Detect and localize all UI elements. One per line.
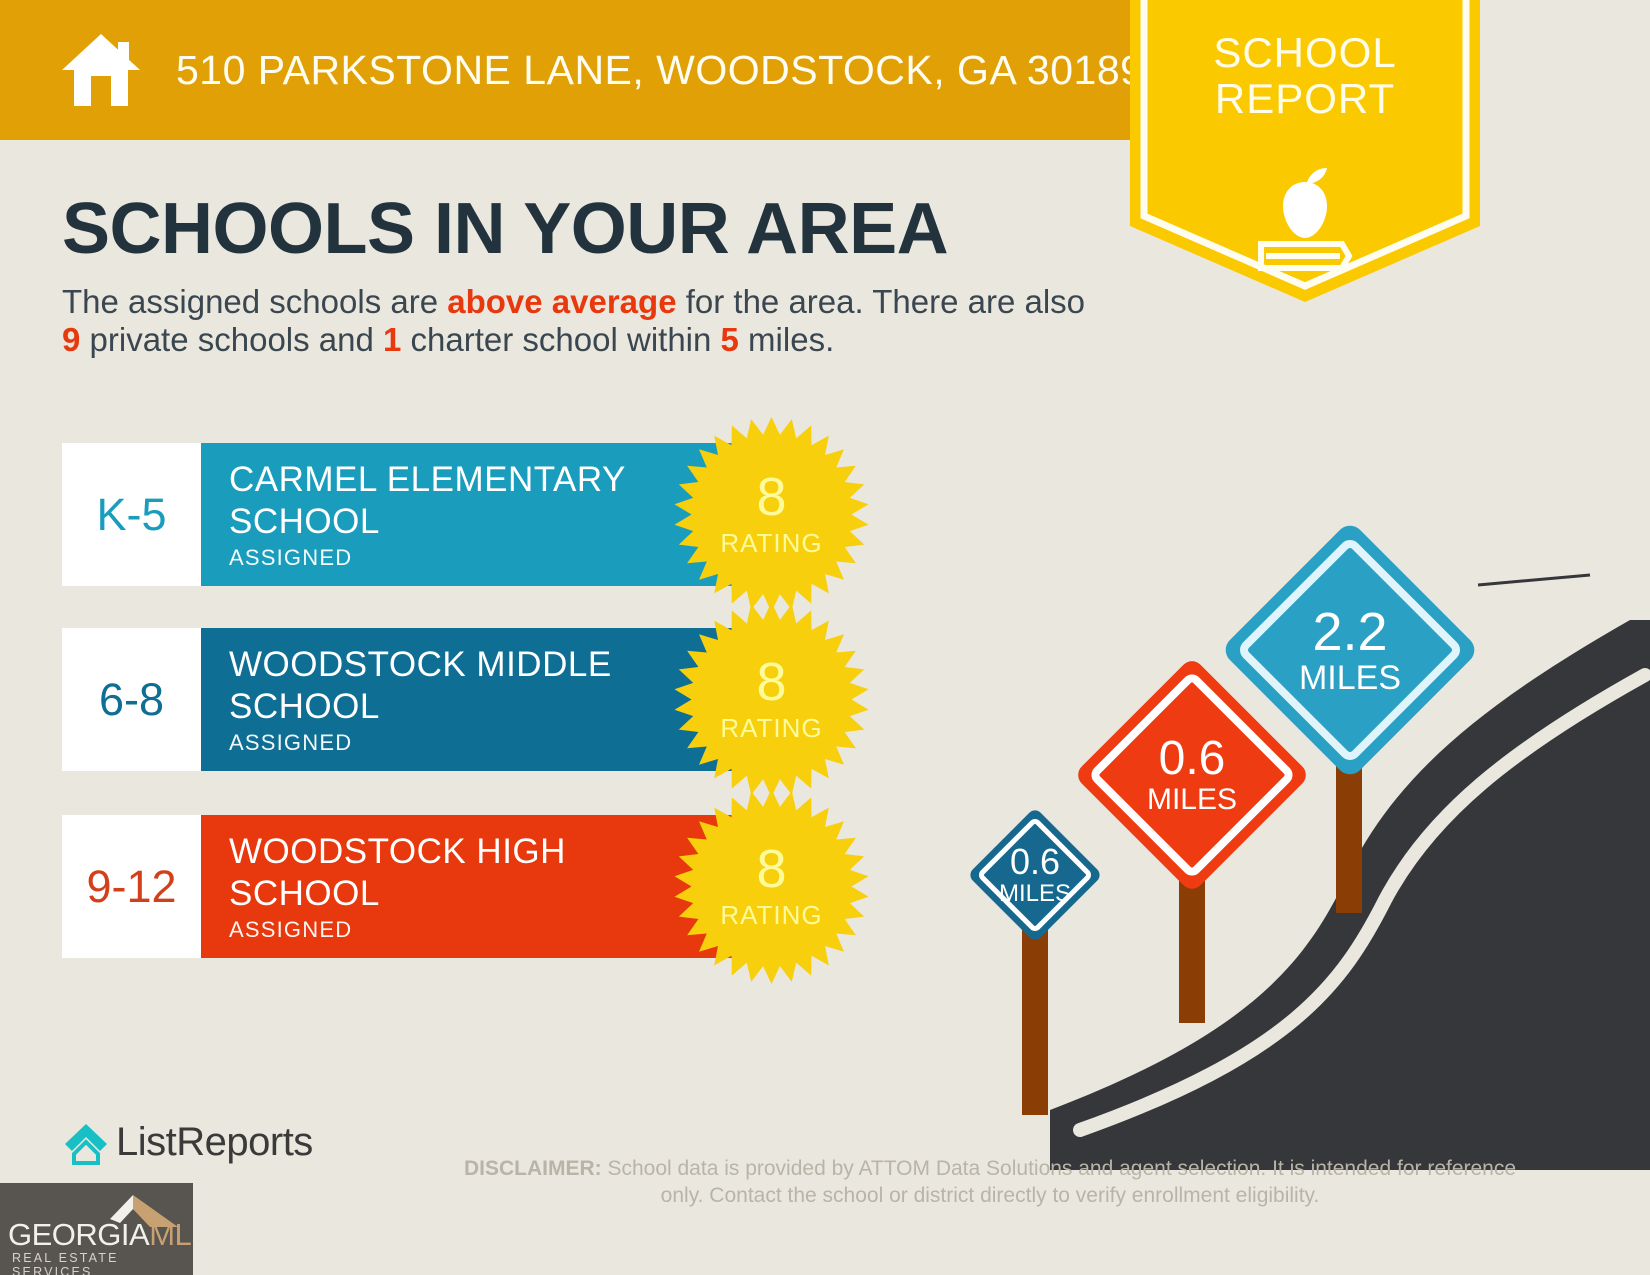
rating-badge-text: 8 RATING — [674, 417, 869, 612]
distance-value: 2.2 — [1312, 605, 1387, 659]
rating-badge: 8 RATING — [674, 417, 869, 612]
rating-badge: 8 RATING — [674, 602, 869, 797]
subtitle-highlight-average: above average — [447, 283, 676, 320]
rating-badge-text: 8 RATING — [674, 789, 869, 984]
property-address: 510 PARKSTONE LANE, WOODSTOCK, GA 30189 — [176, 47, 1143, 94]
rating-badge-text: 8 RATING — [674, 602, 869, 797]
grade-range-box: K-5 — [62, 443, 201, 586]
mls-tagline: REAL ESTATE SERVICES — [12, 1251, 193, 1275]
grade-range-label: 6-8 — [99, 674, 164, 726]
school-report-banner: SCHOOL REPORT — [1130, 0, 1480, 304]
school-row[interactable]: 6-8 WOODSTOCK MIDDLE SCHOOL ASSIGNED 8 R… — [62, 628, 782, 771]
subtitle-text-1: The assigned schools are — [62, 283, 447, 320]
distance-unit: MILES — [1299, 661, 1401, 695]
subtitle-highlight-private-count: 9 — [62, 321, 80, 358]
rating-caption: RATING — [720, 900, 822, 931]
rating-caption: RATING — [720, 713, 822, 744]
mls-word-georgia: GEORGIA — [8, 1217, 149, 1252]
school-report-infographic: 510 PARKSTONE LANE, WOODSTOCK, GA 30189 … — [0, 0, 1650, 1275]
mls-word-mls: MLS — [149, 1217, 193, 1252]
disclaimer-text: DISCLAIMER: School data is provided by A… — [460, 1155, 1520, 1209]
home-icon — [58, 32, 144, 108]
page-title: SCHOOLS IN YOUR AREA — [62, 188, 948, 270]
grade-range-label: K-5 — [96, 489, 166, 541]
disclaimer-body: School data is provided by ATTOM Data So… — [602, 1157, 1516, 1207]
disclaimer-label: DISCLAIMER: — [464, 1157, 602, 1180]
subtitle-highlight-charter-count: 1 — [383, 321, 401, 358]
subtitle-text-2: for the area. There are also — [677, 283, 1085, 320]
rating-score: 8 — [756, 470, 786, 524]
page-subtitle: The assigned schools are above average f… — [62, 283, 1092, 359]
banner-line-1: SCHOOL — [1130, 30, 1480, 76]
rating-caption: RATING — [720, 528, 822, 559]
school-row[interactable]: K-5 CARMEL ELEMENTARY SCHOOL ASSIGNED 8 … — [62, 443, 782, 586]
subtitle-text-5: miles. — [739, 321, 834, 358]
subtitle-highlight-radius: 5 — [721, 321, 739, 358]
road-illustration: 0.6 MILES 0.6 MILES 2.2 MILES — [930, 470, 1650, 1170]
subtitle-text-4: charter school within — [401, 321, 720, 358]
mls-wordmark: GEORGIAMLS — [8, 1217, 193, 1253]
georgia-mls-logo[interactable]: GEORGIAMLS REAL ESTATE SERVICES — [0, 1183, 193, 1275]
banner-title: SCHOOL REPORT — [1130, 30, 1480, 122]
rating-score: 8 — [756, 655, 786, 709]
grade-range-box: 9-12 — [62, 815, 201, 958]
grade-range-box: 6-8 — [62, 628, 201, 771]
school-row[interactable]: 9-12 WOODSTOCK HIGH SCHOOL ASSIGNED 8 RA… — [62, 815, 782, 958]
rating-score: 8 — [756, 842, 786, 896]
banner-line-2: REPORT — [1130, 76, 1480, 122]
rating-badge: 8 RATING — [674, 789, 869, 984]
listreports-logo[interactable]: ListReports — [62, 1118, 313, 1166]
distance-sign: 2.2 MILES — [1200, 500, 1500, 800]
subtitle-text-3: private schools and — [80, 321, 383, 358]
listreports-wordmark: ListReports — [116, 1120, 313, 1165]
listreports-house-icon — [62, 1118, 110, 1166]
grade-range-label: 9-12 — [86, 861, 176, 913]
distance-sign-text: 2.2 MILES — [1200, 500, 1500, 800]
header-bar: 510 PARKSTONE LANE, WOODSTOCK, GA 30189 — [0, 0, 1180, 140]
